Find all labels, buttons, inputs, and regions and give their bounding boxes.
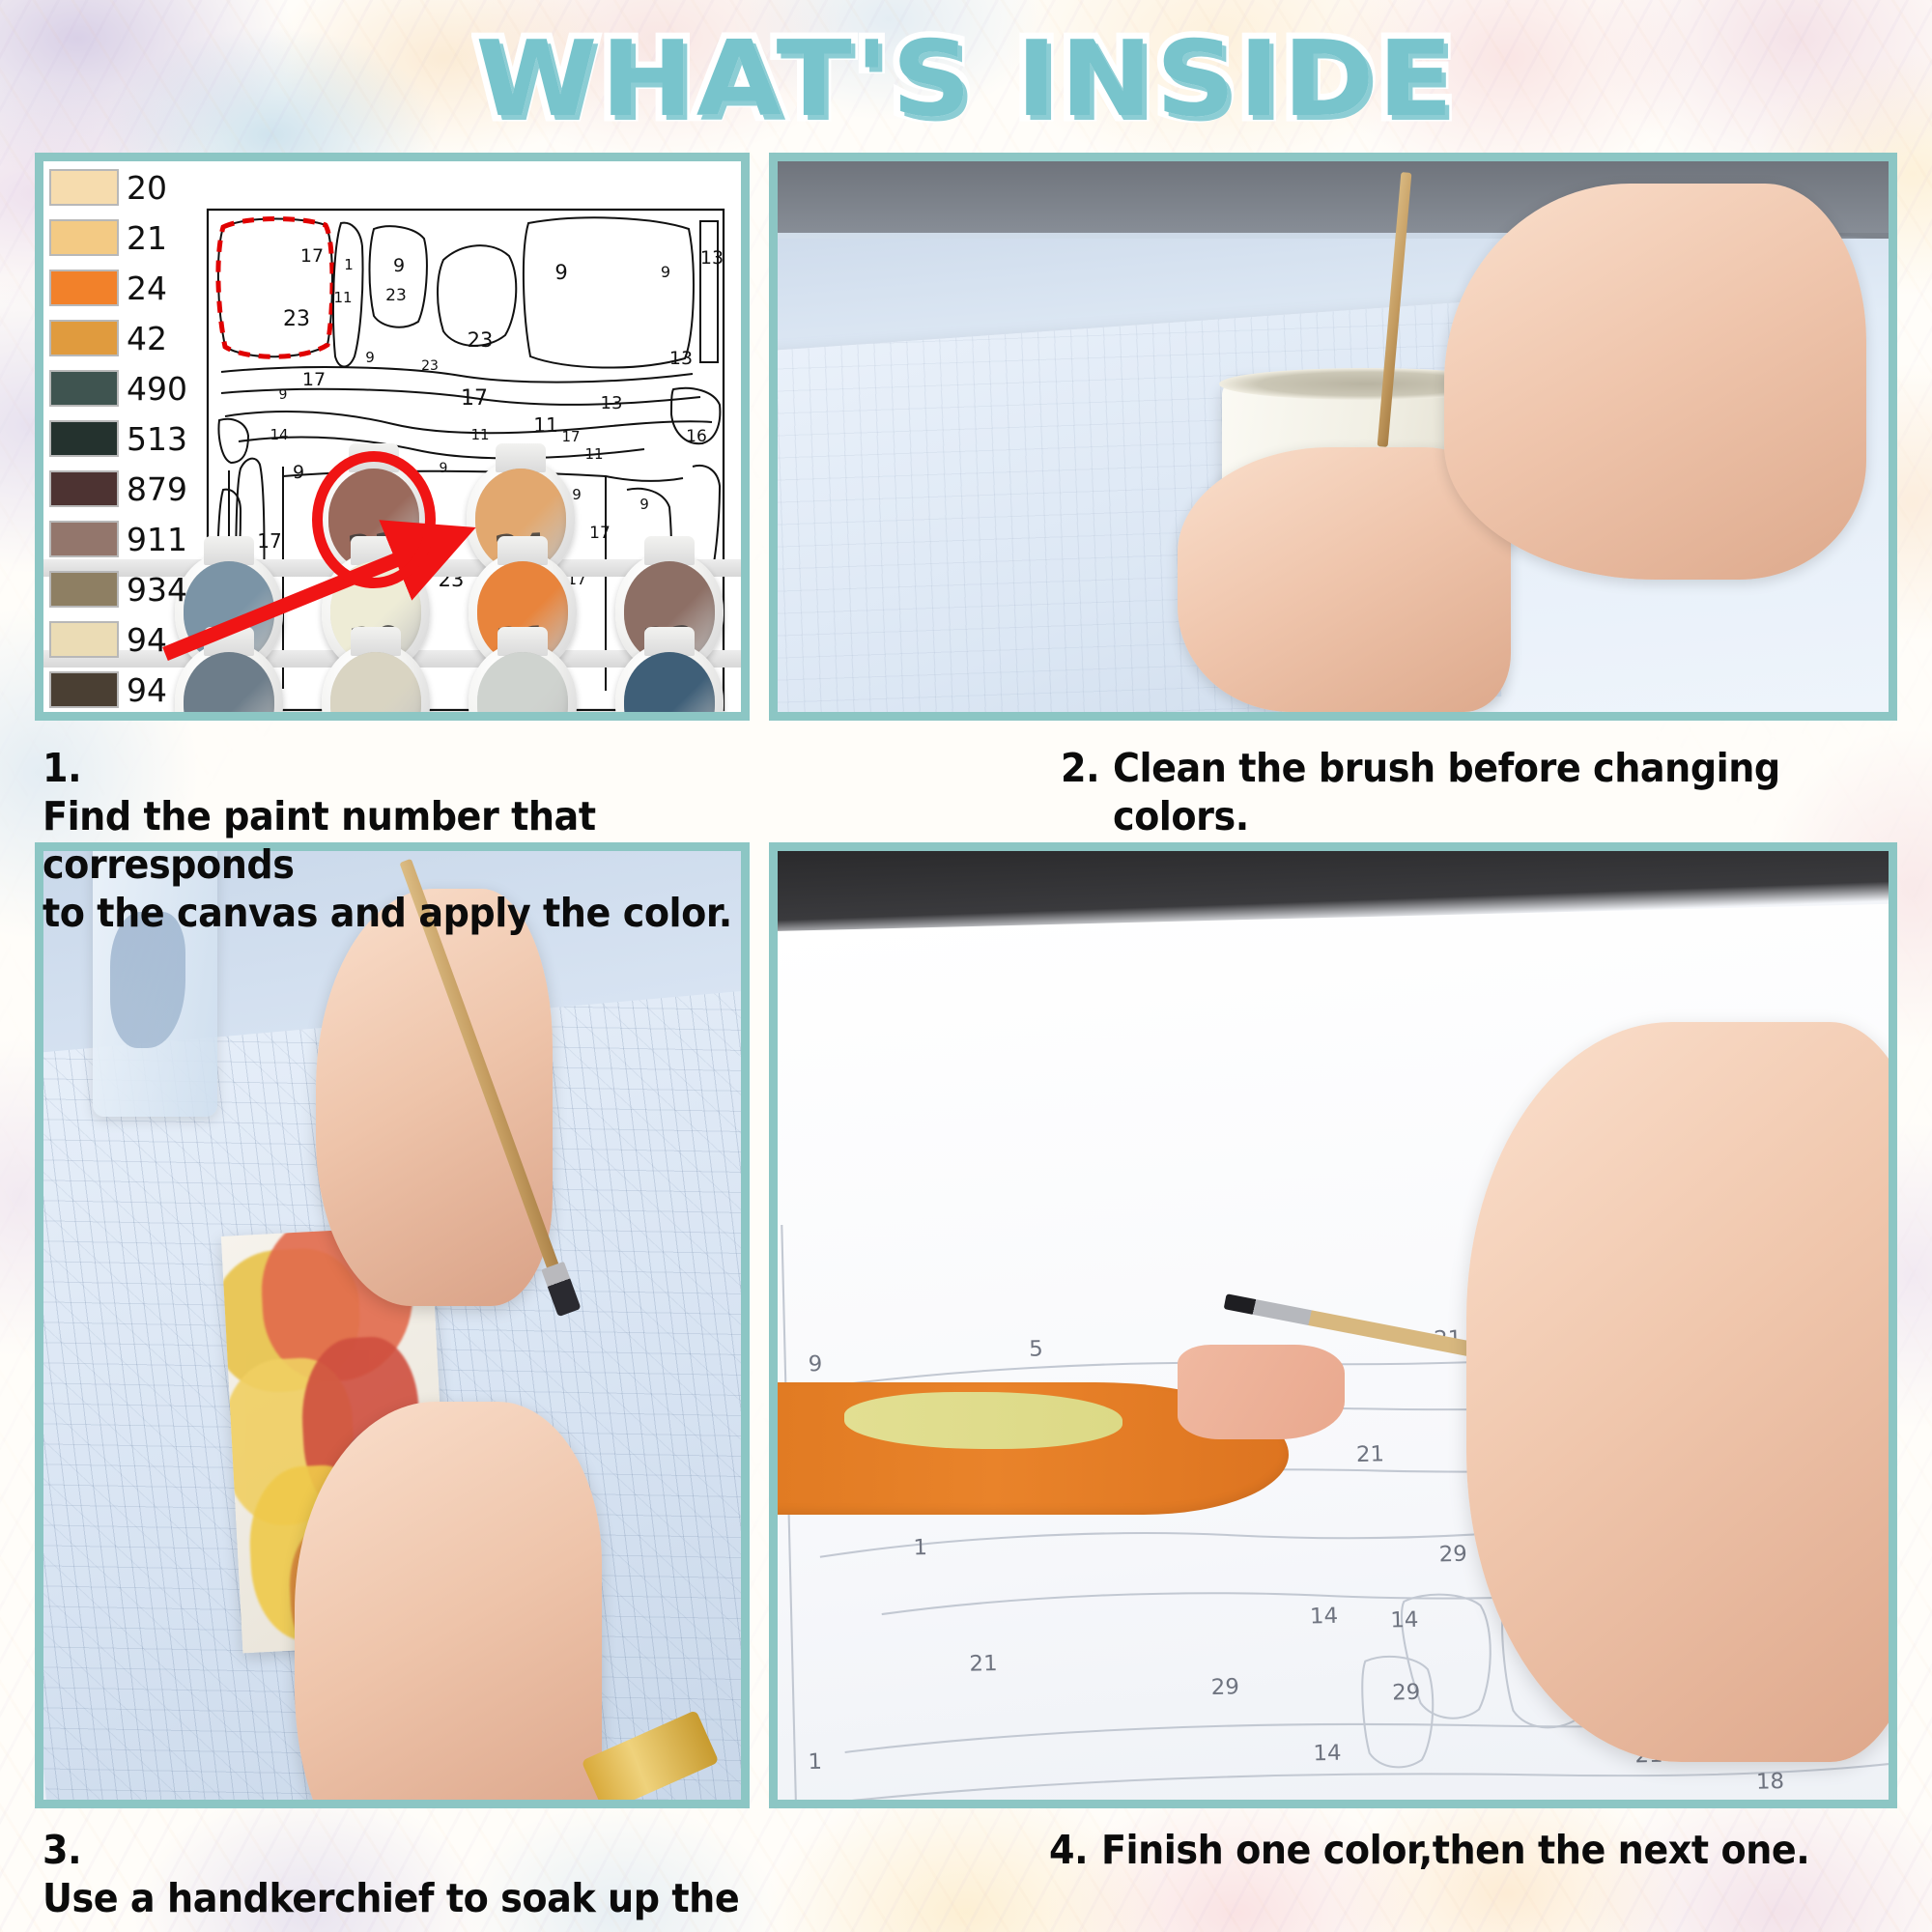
svg-text:14: 14: [1310, 1604, 1339, 1629]
svg-text:1: 1: [808, 1749, 822, 1775]
paint-color-legend: 202124424905138799119349494: [49, 165, 192, 721]
legend-color-swatch: [49, 320, 119, 356]
legend-color-code: 94: [127, 624, 167, 656]
svg-text:13: 13: [601, 393, 623, 413]
svg-text:9: 9: [661, 263, 670, 281]
legend-color-code: 21: [127, 222, 167, 254]
svg-text:23: 23: [385, 286, 407, 305]
panel-clean-brush: [769, 153, 1897, 721]
paint-pot-16[interactable]: 16: [615, 642, 724, 721]
legend-color-swatch: [49, 571, 119, 608]
svg-text:11: 11: [470, 426, 489, 443]
red-arrow-icon: [152, 519, 480, 673]
photo-hand-holding-cloth: [295, 1402, 602, 1800]
svg-text:29: 29: [1438, 1542, 1467, 1567]
step-3-number: 3.: [43, 1826, 95, 1874]
svg-text:18: 18: [1756, 1769, 1785, 1794]
svg-text:13: 13: [669, 348, 693, 369]
legend-row: 911: [49, 517, 192, 561]
legend-row: 42: [49, 316, 192, 360]
step-4-number: 4.: [1049, 1826, 1101, 1874]
svg-text:9: 9: [808, 1351, 822, 1377]
step-4-line-1: Finish one color,then the next one.: [1101, 1827, 1809, 1873]
legend-row: 490: [49, 366, 192, 411]
legend-row: 513: [49, 416, 192, 461]
svg-text:14: 14: [1313, 1741, 1342, 1766]
page-header: WHAT'S INSIDE: [0, 14, 1932, 145]
legend-color-code: 20: [127, 172, 167, 204]
svg-text:21: 21: [969, 1651, 998, 1676]
legend-row: 934: [49, 567, 192, 611]
svg-text:1: 1: [913, 1535, 927, 1560]
svg-text:23: 23: [421, 358, 439, 374]
svg-text:16: 16: [686, 427, 707, 446]
legend-color-swatch: [49, 521, 119, 557]
svg-text:11: 11: [584, 445, 603, 463]
step-2-number: 2.: [1061, 744, 1113, 792]
legend-row: 879: [49, 467, 192, 511]
photo-hand-holding-brush: [1466, 1022, 1889, 1762]
legend-color-code: 94: [127, 674, 167, 706]
svg-text:9: 9: [554, 261, 567, 284]
legend-color-swatch: [49, 671, 119, 708]
legend-row: 94: [49, 668, 192, 712]
legend-color-code: 911: [127, 524, 187, 555]
svg-text:17: 17: [300, 245, 324, 267]
legend-color-swatch: [49, 270, 119, 306]
svg-text:1: 1: [344, 256, 354, 273]
page-title: WHAT'S INSIDE: [475, 19, 1456, 140]
legend-row: 21: [49, 215, 192, 260]
photo-peach-paint-area: [1178, 1345, 1345, 1439]
svg-text:23: 23: [283, 307, 310, 331]
svg-text:5: 5: [1029, 1336, 1043, 1361]
step-1-caption: 1.Find the paint number that corresponds…: [43, 744, 753, 937]
legend-color-swatch: [49, 169, 119, 206]
svg-text:9: 9: [393, 255, 405, 276]
step-1-number: 1.: [43, 744, 95, 792]
step-4-caption: 4.Finish one color,then the next one.: [1049, 1826, 1858, 1874]
step-3-caption: 3.Use a handkerchief to soak up the wate…: [43, 1826, 753, 1932]
step-2-line-2: colors.: [1113, 793, 1249, 839]
legend-row: 24: [49, 266, 192, 310]
panel-finish-color: 21 21 21 6 17 5 21 5 21 9 21 21 17 21 21…: [769, 842, 1897, 1808]
photo-hand-holding-brush: [1444, 184, 1866, 580]
panel-2-photo: [778, 161, 1889, 712]
legend-color-swatch: [49, 219, 119, 256]
legend-row: 20: [49, 165, 192, 210]
legend-color-code: 879: [127, 473, 187, 505]
paint-pot-15[interactable]: 15: [469, 642, 577, 721]
legend-color-swatch: [49, 621, 119, 658]
svg-text:14: 14: [1390, 1607, 1419, 1633]
svg-text:11: 11: [533, 413, 557, 437]
svg-text:17: 17: [302, 369, 326, 390]
panel-3-photo: [43, 851, 741, 1800]
svg-text:23: 23: [468, 328, 494, 352]
legend-color-code: 934: [127, 574, 187, 606]
legend-row: 94: [49, 617, 192, 662]
svg-text:17: 17: [561, 428, 580, 445]
step-2-caption: 2.Clean the brush before changing colors…: [1061, 744, 1851, 840]
legend-color-swatch: [49, 420, 119, 457]
svg-text:14: 14: [270, 426, 288, 443]
legend-color-swatch: [49, 470, 119, 507]
svg-text:17: 17: [461, 386, 488, 411]
legend-color-code: 24: [127, 272, 167, 304]
panel-1-content: 17 9 13 9 1 11 23 23 9 23 13 9 23 17 9 1…: [43, 161, 741, 712]
panel-soak-water: [35, 842, 750, 1808]
step-1-line-2: to the canvas and apply the color.: [43, 890, 732, 936]
legend-color-code: 513: [127, 423, 187, 455]
svg-text:11: 11: [333, 289, 352, 306]
panel-find-paint-number: 17 9 13 9 1 11 23 23 9 23 13 9 23 17 9 1…: [35, 153, 750, 721]
step-1-line-1: Find the paint number that corresponds: [43, 793, 596, 888]
legend-color-code: 490: [127, 373, 187, 405]
step-2-line-1: Clean the brush before changing: [1113, 745, 1780, 791]
svg-text:9: 9: [279, 387, 288, 403]
photo-yellow-paint-area: [844, 1392, 1122, 1449]
svg-text:9: 9: [365, 349, 375, 366]
step-3-line-1: Use a handkerchief to soak up the water: [43, 1875, 739, 1932]
svg-text:29: 29: [1392, 1680, 1421, 1705]
legend-color-swatch: [49, 370, 119, 407]
legend-color-code: 42: [127, 323, 167, 355]
svg-text:13: 13: [700, 247, 724, 269]
svg-text:29: 29: [1210, 1674, 1239, 1699]
svg-text:21: 21: [1356, 1441, 1385, 1466]
panel-4-photo: 21 21 21 6 17 5 21 5 21 9 21 21 17 21 21…: [778, 851, 1889, 1800]
